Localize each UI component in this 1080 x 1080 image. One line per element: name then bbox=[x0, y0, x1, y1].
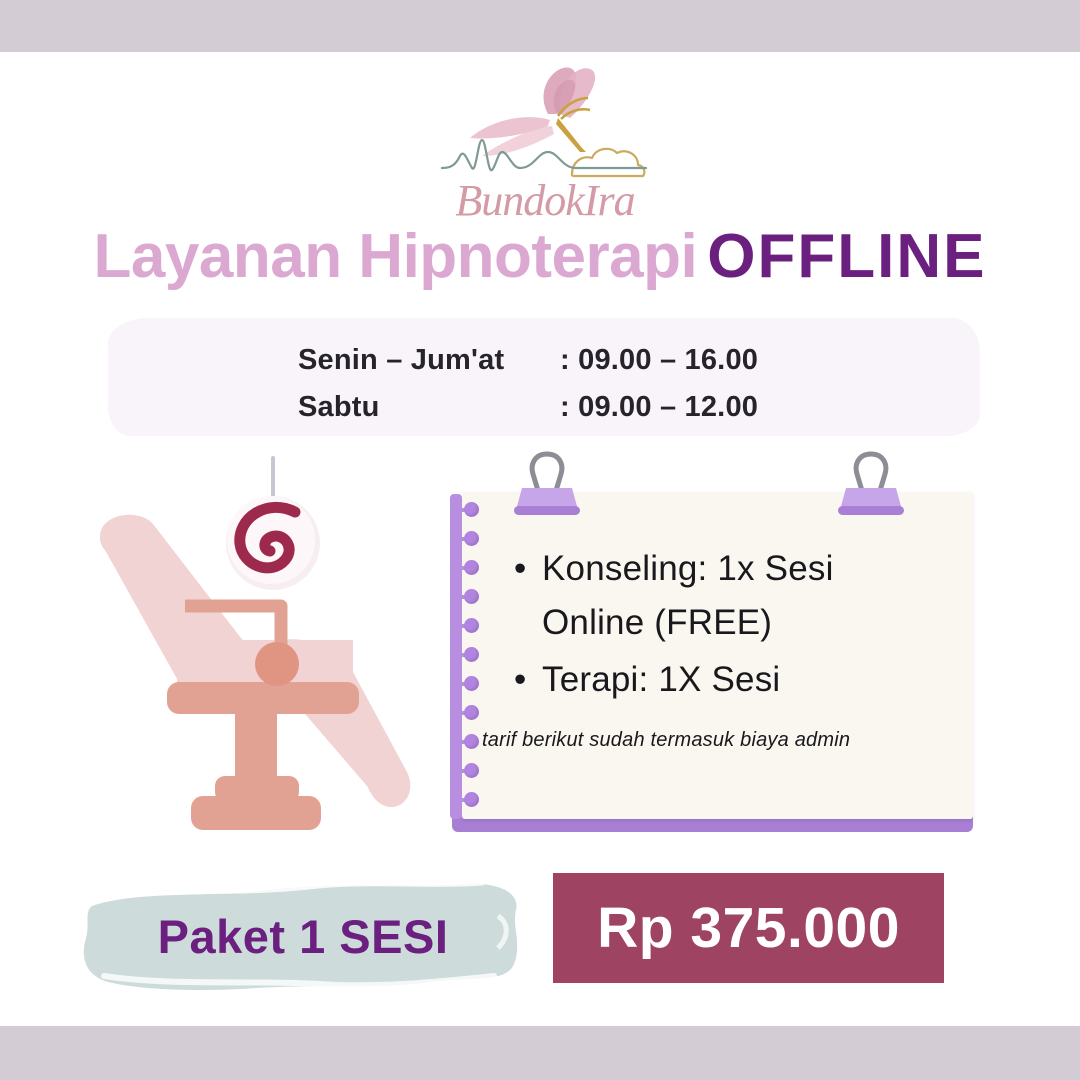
list-item-label: Terapi: 1X Sesi bbox=[542, 660, 780, 699]
top-border-band bbox=[0, 0, 1080, 52]
price-banner: Rp 375.000 bbox=[553, 873, 944, 983]
schedule-row: Senin – Jum'at : 09.00 – 16.00 bbox=[298, 344, 818, 391]
notepad-ring bbox=[453, 502, 479, 518]
schedule-day: Sabtu bbox=[298, 391, 560, 424]
notepad-ring bbox=[453, 560, 479, 576]
price-label: Rp 375.000 bbox=[597, 895, 900, 961]
brand-logo: BundokIra bbox=[430, 52, 660, 224]
cloud-icon bbox=[572, 149, 645, 176]
brand-wordmark: BundokIra bbox=[455, 176, 634, 224]
notepad-ring bbox=[453, 531, 479, 547]
chair-seat-cushion bbox=[167, 682, 359, 714]
bullet-icon: • bbox=[514, 542, 526, 596]
schedule-time: : 09.00 – 12.00 bbox=[560, 391, 758, 424]
list-item: • Terapi: 1X Sesi bbox=[542, 653, 942, 707]
headline-light-text: Layanan Hipnoterapi bbox=[94, 222, 698, 291]
notepad-ring bbox=[453, 589, 479, 605]
bullet-icon: • bbox=[514, 653, 526, 707]
notepad-ring bbox=[453, 763, 479, 779]
notepad-content: • Konseling: 1x Sesi Online (FREE) • Ter… bbox=[512, 542, 942, 752]
notepad-card: • Konseling: 1x Sesi Online (FREE) • Ter… bbox=[450, 480, 975, 835]
schedule-list: Senin – Jum'at : 09.00 – 16.00 Sabtu : 0… bbox=[298, 344, 818, 438]
heartbeat-wave-icon bbox=[442, 140, 646, 170]
hypnosis-spiral-pendulum bbox=[226, 496, 320, 590]
service-list: • Konseling: 1x Sesi Online (FREE) • Ter… bbox=[512, 542, 942, 707]
notepad-ring bbox=[453, 647, 479, 663]
notepad-ring bbox=[453, 618, 479, 634]
schedule-row: Sabtu : 09.00 – 12.00 bbox=[298, 391, 818, 438]
chair-armrest-knob bbox=[255, 642, 299, 686]
notepad-ring bbox=[453, 705, 479, 721]
chair-column bbox=[235, 712, 277, 784]
headline-strong-text: OFFLINE bbox=[707, 222, 986, 291]
package-label: Paket 1 SESI bbox=[78, 872, 528, 1000]
package-badge: Paket 1 SESI bbox=[78, 872, 528, 1000]
chair-base-lower bbox=[191, 796, 321, 830]
poster-canvas: BundokIra Layanan HipnoterapiOFFLINE Sen… bbox=[0, 0, 1080, 1080]
bottom-border-band bbox=[0, 1026, 1080, 1080]
list-item: • Konseling: 1x Sesi Online (FREE) bbox=[542, 542, 942, 651]
notepad-ring bbox=[453, 734, 479, 750]
admin-fee-note: tarif berikut sudah termasuk biaya admin bbox=[482, 729, 942, 752]
binder-clip-icon bbox=[832, 448, 910, 518]
schedule-day: Senin – Jum'at bbox=[298, 344, 560, 377]
notepad-ring bbox=[453, 792, 479, 808]
list-item-label: Konseling: 1x Sesi Online (FREE) bbox=[542, 549, 834, 642]
therapy-chair-illustration bbox=[85, 450, 445, 840]
page-title: Layanan HipnoterapiOFFLINE bbox=[0, 226, 1080, 288]
notepad-ring bbox=[453, 676, 479, 692]
butterfly-icon bbox=[470, 68, 595, 156]
schedule-time: : 09.00 – 16.00 bbox=[560, 344, 758, 377]
binder-clip-icon bbox=[508, 448, 586, 518]
